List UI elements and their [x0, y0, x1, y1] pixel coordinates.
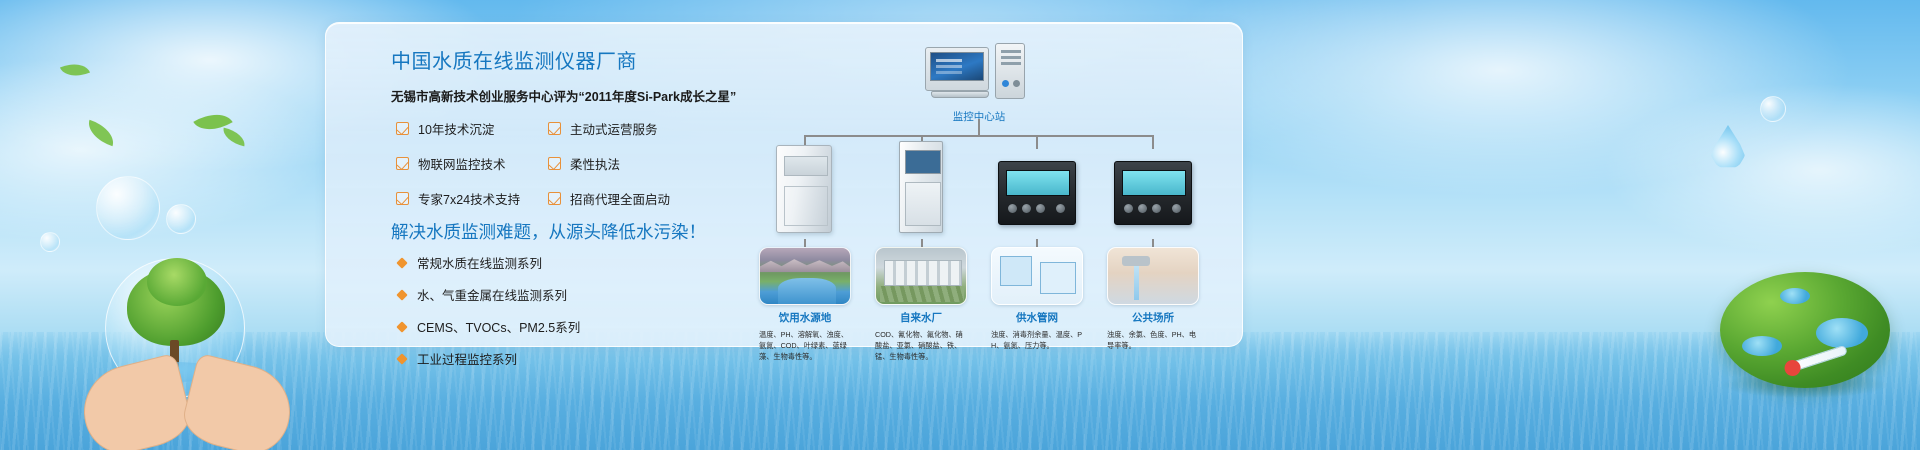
- scene-description: 浊度、消毒剂余量、温度、PH、氨氮、压力等。: [991, 329, 1083, 351]
- scene-card[interactable]: 公共场所 浊度、余氯、色度、PH、电导率等。: [1107, 247, 1199, 351]
- cabinet-body: [776, 145, 832, 233]
- monitoring-center-node: 监控中心站: [924, 43, 1034, 124]
- feature-item[interactable]: 柔性执法: [548, 154, 716, 173]
- analyzer-body: [998, 161, 1076, 225]
- leaf-decoration: [60, 58, 90, 83]
- feature-item[interactable]: 物联网监控技术: [396, 154, 548, 173]
- scene-description: COD、氰化物、氟化物、硝酸盐、亚氯、硝酸盐、铁、锰、生物毒性等。: [875, 329, 967, 362]
- diamond-bullet-icon: [396, 257, 407, 268]
- product-line-label: 常规水质在线监测系列: [417, 253, 542, 272]
- feature-label: 主动式运营服务: [570, 119, 658, 138]
- product-line-label: 水、气重金属在线监测系列: [417, 285, 567, 304]
- analyzer-body: [1114, 161, 1192, 225]
- checkbox-checked-icon: [396, 192, 409, 205]
- checkbox-checked-icon: [396, 122, 409, 135]
- checkbox-checked-icon: [548, 192, 561, 205]
- leaf-decoration: [84, 120, 118, 146]
- earth-lake: [1816, 318, 1868, 348]
- product-line-label: 工业过程监控系列: [417, 349, 517, 368]
- scene-card[interactable]: 供水管网 浊度、消毒剂余量、温度、PH、氨氮、压力等。: [991, 247, 1083, 351]
- earth-lake: [1742, 336, 1782, 356]
- scene-description: 温度、PH、溶解氧、浊度、氨氮、COD、叶绿素、蓝绿藻、生物毒性等。: [759, 329, 851, 362]
- feature-label: 物联网监控技术: [418, 154, 506, 173]
- feature-item[interactable]: 招商代理全面启动: [548, 189, 716, 208]
- earth-lake: [1780, 288, 1810, 304]
- bubble-decoration: [166, 204, 196, 234]
- content-panel: 中国水质在线监测仪器厂商 无锡市高新技术创业服务中心评为“2011年度Si-Pa…: [325, 22, 1243, 347]
- faucet-hands-photo: [1107, 247, 1199, 305]
- connector-line: [1152, 135, 1154, 149]
- hands-holding-tree-illustration: [75, 250, 310, 450]
- diamond-bullet-icon: [396, 353, 407, 364]
- river-source-photo: [759, 247, 851, 305]
- page-subtitle: 无锡市高新技术创业服务中心评为“2011年度Si-Park成长之星”: [391, 86, 731, 105]
- monitor-screen: [930, 52, 984, 81]
- analyzer-buttons: [1008, 204, 1068, 217]
- scene-title: 公共场所: [1107, 310, 1199, 325]
- list-item[interactable]: 水、气重金属在线监测系列: [398, 285, 580, 304]
- water-plant-photo: [875, 247, 967, 305]
- connector-line: [804, 135, 1154, 137]
- computer-workstation-icon: [925, 43, 1033, 105]
- cabinet-body: [899, 141, 943, 233]
- bubble-decoration: [1760, 96, 1786, 122]
- analyzer-display: [1006, 170, 1070, 196]
- tree-crown-top: [147, 258, 207, 306]
- monitor-icon: [925, 47, 989, 91]
- feature-label: 专家7x24技术支持: [418, 189, 520, 208]
- product-line-list: 常规水质在线监测系列 水、气重金属在线监测系列 CEMS、TVOCs、PM2.5…: [398, 253, 580, 381]
- analyzer-display: [1122, 170, 1186, 196]
- list-item[interactable]: 工业过程监控系列: [398, 349, 580, 368]
- device-cabinet-tall: [899, 141, 943, 233]
- feature-item[interactable]: 主动式运营服务: [548, 119, 716, 138]
- diamond-bullet-icon: [396, 321, 407, 332]
- feature-checklist: 10年技术沉淀 主动式运营服务 物联网监控技术 柔性执法 专家7x24技术支持 …: [396, 119, 716, 208]
- connector-line: [978, 119, 980, 135]
- bubble-decoration: [40, 232, 60, 252]
- checkbox-checked-icon: [548, 157, 561, 170]
- scene-card[interactable]: 自来水厂 COD、氰化物、氟化物、硝酸盐、亚氯、硝酸盐、铁、锰、生物毒性等。: [875, 247, 967, 362]
- section-title-solution: 解决水质监测难题，从源头降低水污染！: [391, 219, 706, 244]
- scene-title: 供水管网: [991, 310, 1083, 325]
- device-analyzer-right: [1114, 161, 1192, 225]
- pc-tower-icon: [995, 43, 1025, 99]
- list-item[interactable]: CEMS、TVOCs、PM2.5系列: [398, 317, 580, 336]
- system-topology-diagram: 监控中心站: [746, 35, 1216, 340]
- monitor-stand: [931, 91, 989, 98]
- product-line-label: CEMS、TVOCs、PM2.5系列: [417, 317, 580, 336]
- feature-item[interactable]: 专家7x24技术支持: [396, 189, 548, 208]
- left-palm: [74, 353, 196, 450]
- leaf-decoration: [221, 128, 247, 147]
- water-droplet-icon: [1711, 125, 1745, 169]
- diamond-bullet-icon: [396, 289, 407, 300]
- device-analyzer-left: [998, 161, 1076, 225]
- scene-card[interactable]: 饮用水源地 温度、PH、溶解氧、浊度、氨氮、COD、叶绿素、蓝绿藻、生物毒性等。: [759, 247, 851, 362]
- connector-line: [1036, 135, 1038, 149]
- feature-label: 招商代理全面启动: [570, 189, 670, 208]
- bubble-decoration: [96, 176, 160, 240]
- list-item[interactable]: 常规水质在线监测系列: [398, 253, 580, 272]
- page-title: 中国水质在线监测仪器厂商: [391, 45, 731, 74]
- pipeline-diagram: [991, 247, 1083, 305]
- checkbox-checked-icon: [396, 157, 409, 170]
- feature-item[interactable]: 10年技术沉淀: [396, 119, 548, 138]
- headline-block: 中国水质在线监测仪器厂商 无锡市高新技术创业服务中心评为“2011年度Si-Pa…: [391, 45, 731, 105]
- analyzer-buttons: [1124, 204, 1184, 217]
- scene-title: 自来水厂: [875, 310, 967, 325]
- device-cabinet-white: [776, 145, 832, 233]
- right-palm: [178, 353, 300, 450]
- scene-description: 浊度、余氯、色度、PH、电导率等。: [1107, 329, 1199, 351]
- green-earth-illustration: [1720, 272, 1890, 388]
- scene-title: 饮用水源地: [759, 310, 851, 325]
- feature-label: 柔性执法: [570, 154, 620, 173]
- feature-label: 10年技术沉淀: [418, 119, 494, 138]
- checkbox-checked-icon: [548, 122, 561, 135]
